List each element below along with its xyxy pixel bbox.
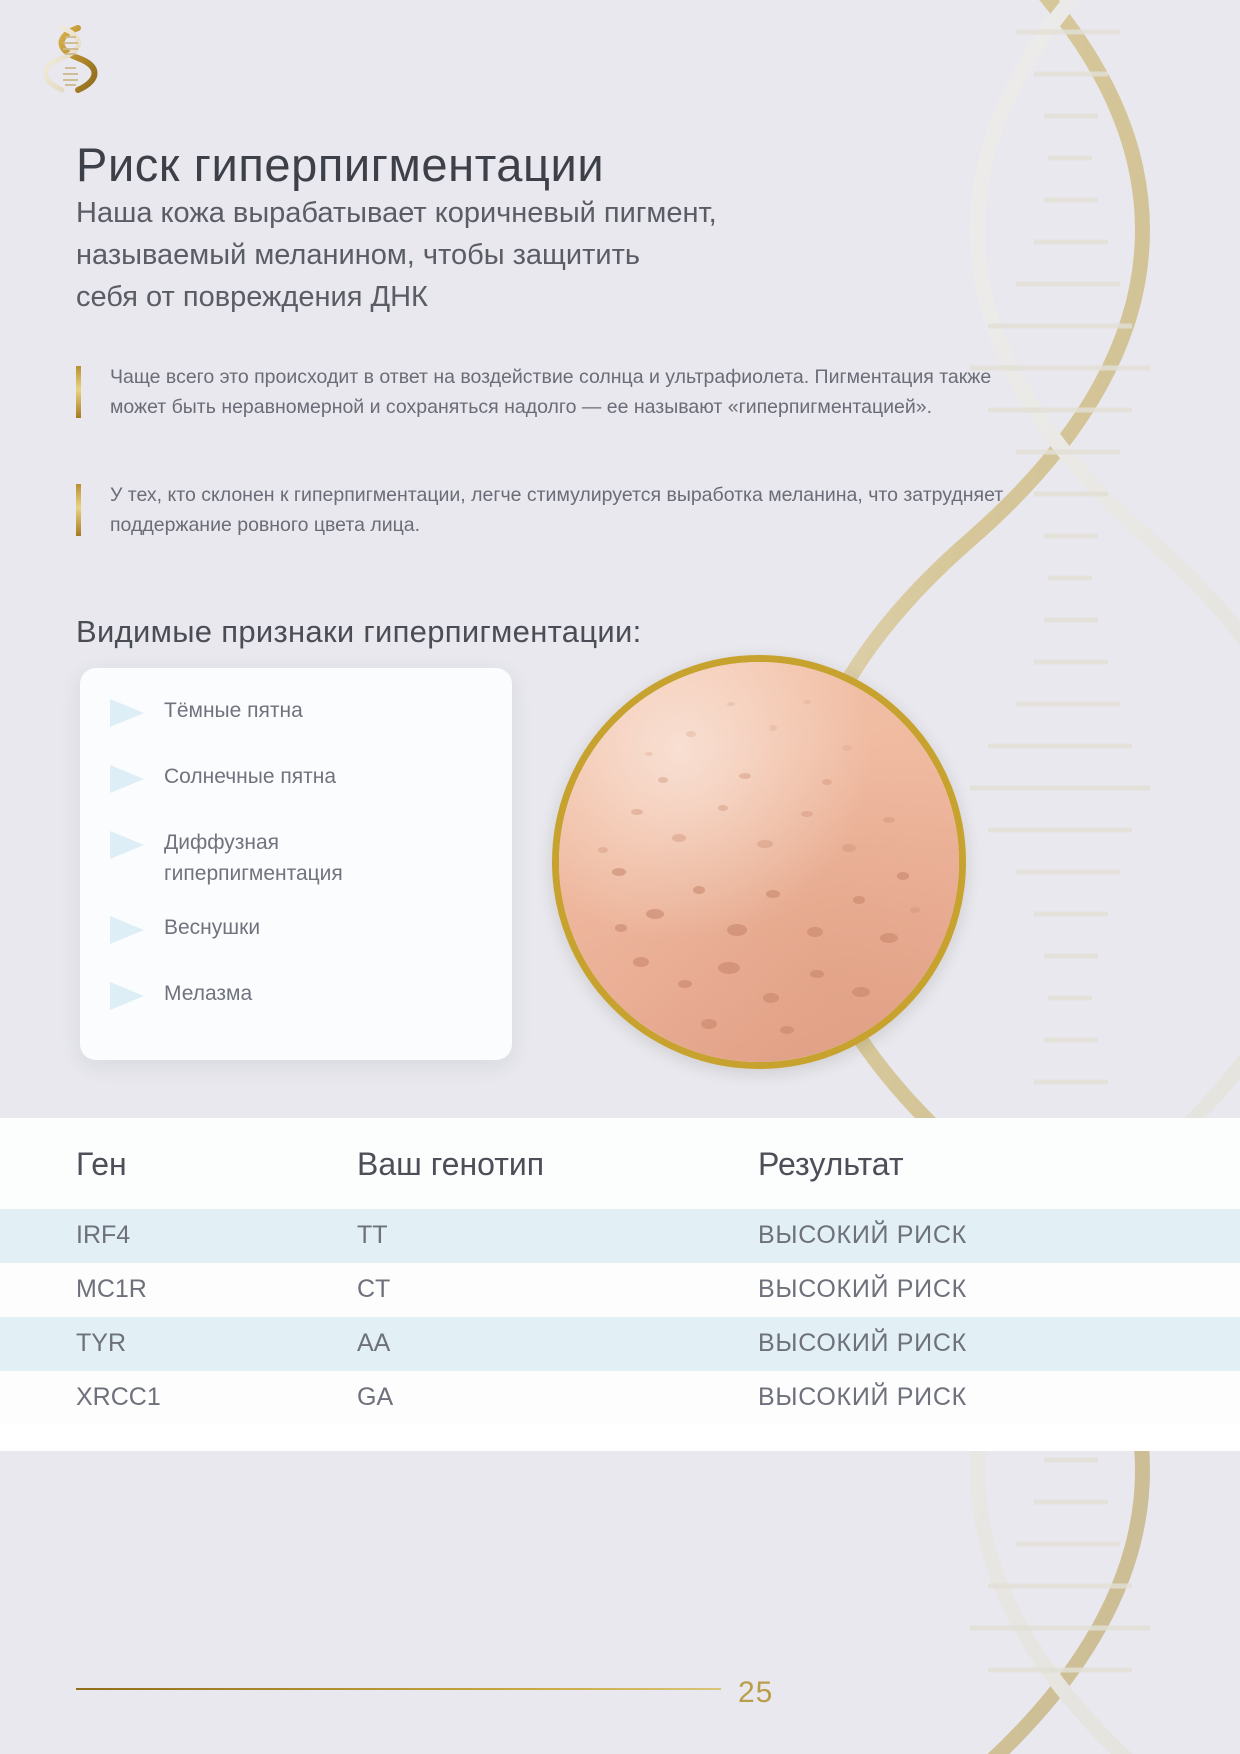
list-item-label: Диффузная гиперпигментация <box>164 826 414 889</box>
status-badge: ВЫСОКИЙ РИСК <box>750 1317 1240 1371</box>
cell-gene: XRCC1 <box>0 1371 345 1425</box>
footer-divider <box>76 1688 721 1690</box>
column-header-gene: Ген <box>0 1118 345 1209</box>
list-item: Диффузная гиперпигментация <box>108 826 494 889</box>
table-row: MC1R CT ВЫСОКИЙ РИСК <box>0 1263 1240 1317</box>
list-item-label: Тёмные пятна <box>164 694 303 726</box>
list-item-label: Мелазма <box>164 977 252 1009</box>
table-row: TYR AA ВЫСОКИЙ РИСК <box>0 1317 1240 1371</box>
list-item: Мелазма <box>108 977 494 1021</box>
list-item-label: Веснушки <box>164 911 260 943</box>
page-subtitle: Наша кожа вырабатывает коричневый пигмен… <box>76 192 956 318</box>
visible-signs-card: Тёмные пятна Солнечные пятна Диффузная г… <box>80 668 512 1060</box>
triangle-right-icon <box>108 828 148 862</box>
triangle-right-icon <box>108 762 148 796</box>
cell-gene: MC1R <box>0 1263 345 1317</box>
column-header-result: Результат <box>750 1118 1240 1209</box>
callout-block-1: Чаще всего это происходит в ответ на воз… <box>76 362 1010 422</box>
page-footer: 25 <box>0 1594 1240 1754</box>
signs-list: Тёмные пятна Солнечные пятна Диффузная г… <box>108 694 494 1021</box>
cell-gene: TYR <box>0 1317 345 1371</box>
list-item-label: Солнечные пятна <box>164 760 336 792</box>
list-item: Веснушки <box>108 911 494 955</box>
callout-block-2: У тех, кто склонен к гиперпигментации, л… <box>76 480 1010 540</box>
cell-genotype: AA <box>345 1317 750 1371</box>
table-header-row: Ген Ваш генотип Результат <box>0 1118 1240 1209</box>
freckle-pattern <box>559 662 945 1048</box>
signs-section-heading: Видимые признаки гиперпигментации: <box>76 614 642 650</box>
status-badge: ВЫСОКИЙ РИСК <box>750 1371 1240 1425</box>
column-header-genotype: Ваш генотип <box>345 1118 750 1209</box>
dna-helix-icon <box>44 24 98 94</box>
cell-genotype: GA <box>345 1371 750 1425</box>
triangle-right-icon <box>108 696 148 730</box>
cell-genotype: CT <box>345 1263 750 1317</box>
cell-genotype: TT <box>345 1209 750 1263</box>
page-title: Риск гиперпигментации <box>76 137 604 192</box>
page-number: 25 <box>738 1676 773 1710</box>
results-table-band: Ген Ваш генотип Результат IRF4 TT ВЫСОКИ… <box>0 1118 1240 1451</box>
triangle-right-icon <box>108 979 148 1013</box>
callout-text-1: Чаще всего это происходит в ответ на воз… <box>110 362 1010 422</box>
list-item: Солнечные пятна <box>108 760 494 804</box>
table-row: IRF4 TT ВЫСОКИЙ РИСК <box>0 1209 1240 1263</box>
table-row: XRCC1 GA ВЫСОКИЙ РИСК <box>0 1371 1240 1425</box>
status-badge: ВЫСОКИЙ РИСК <box>750 1263 1240 1317</box>
status-badge: ВЫСОКИЙ РИСК <box>750 1209 1240 1263</box>
skin-hyperpigmentation-photo <box>552 655 966 1069</box>
list-item: Тёмные пятна <box>108 694 494 738</box>
cell-gene: IRF4 <box>0 1209 345 1263</box>
genotype-results-table: Ген Ваш генотип Результат IRF4 TT ВЫСОКИ… <box>0 1118 1240 1425</box>
callout-text-2: У тех, кто склонен к гиперпигментации, л… <box>110 480 1010 540</box>
triangle-right-icon <box>108 913 148 947</box>
